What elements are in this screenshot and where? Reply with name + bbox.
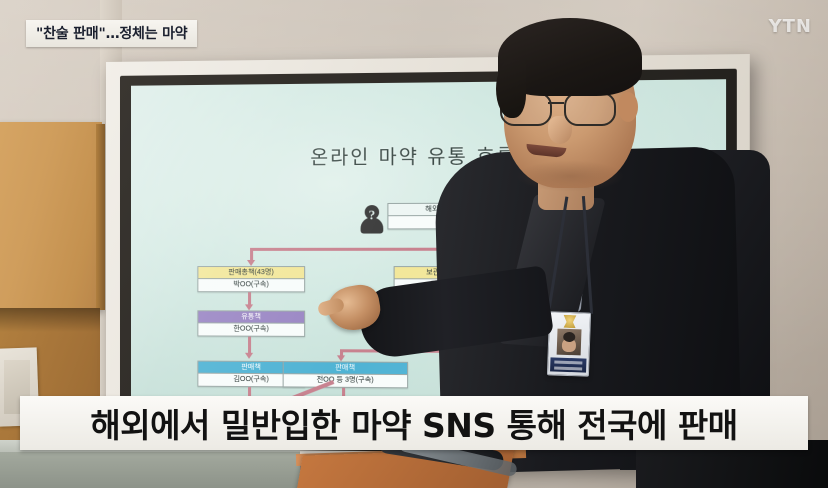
headline-caption: "찬술 판매"…정체는 마약 (26, 20, 197, 47)
badge-photo (557, 329, 582, 356)
node-header: 판매책 (284, 362, 407, 375)
node-body: 한OO(구속) (198, 323, 304, 336)
wooden-cabinet (0, 122, 102, 310)
cabinet-edge (96, 124, 105, 310)
lower-third-caption: 해외에서 밀반입한 마약 SNS 통해 전국에 판매 (20, 396, 808, 450)
badge-text-bar (550, 357, 586, 372)
edge-horizontal (250, 248, 450, 251)
cabinet-shadow (0, 308, 100, 332)
broadcaster-logo: YTN (769, 16, 812, 37)
screenshot-stage: 온라인 마약 유통 흐름도 ? 해외 마약공 총책 성명불상 (0, 0, 828, 488)
node-header: 유통책 (198, 311, 304, 323)
node-seller-2: 판매책 전OO 등 3명(구속) (283, 361, 408, 388)
id-badge (547, 311, 591, 376)
presenter-chin-shadow (516, 160, 624, 192)
node-header: 판매총책(43명) (198, 267, 304, 279)
glasses-lens-right (564, 92, 616, 126)
presenter-hair-side (496, 60, 526, 118)
badge-text-line (554, 361, 582, 365)
badge-text-line (554, 366, 582, 370)
unknown-person-avatar: ? (361, 205, 384, 234)
lower-third-text: 해외에서 밀반입한 마약 SNS 통해 전국에 판매 (90, 399, 737, 447)
desk-surface (0, 452, 300, 488)
badge-emblem-icon (562, 315, 578, 329)
edge-arrow (245, 353, 253, 359)
node-sales-boss: 판매총책(43명) 박OO(구속) (197, 266, 305, 292)
node-distributor-left: 유통책 한OO(구속) (197, 310, 305, 337)
node-body: 전OO 등 3명(구속) (284, 374, 407, 387)
node-body: 박OO(구속) (198, 279, 304, 291)
glasses-bridge (548, 102, 564, 104)
question-mark-icon: ? (361, 207, 384, 223)
